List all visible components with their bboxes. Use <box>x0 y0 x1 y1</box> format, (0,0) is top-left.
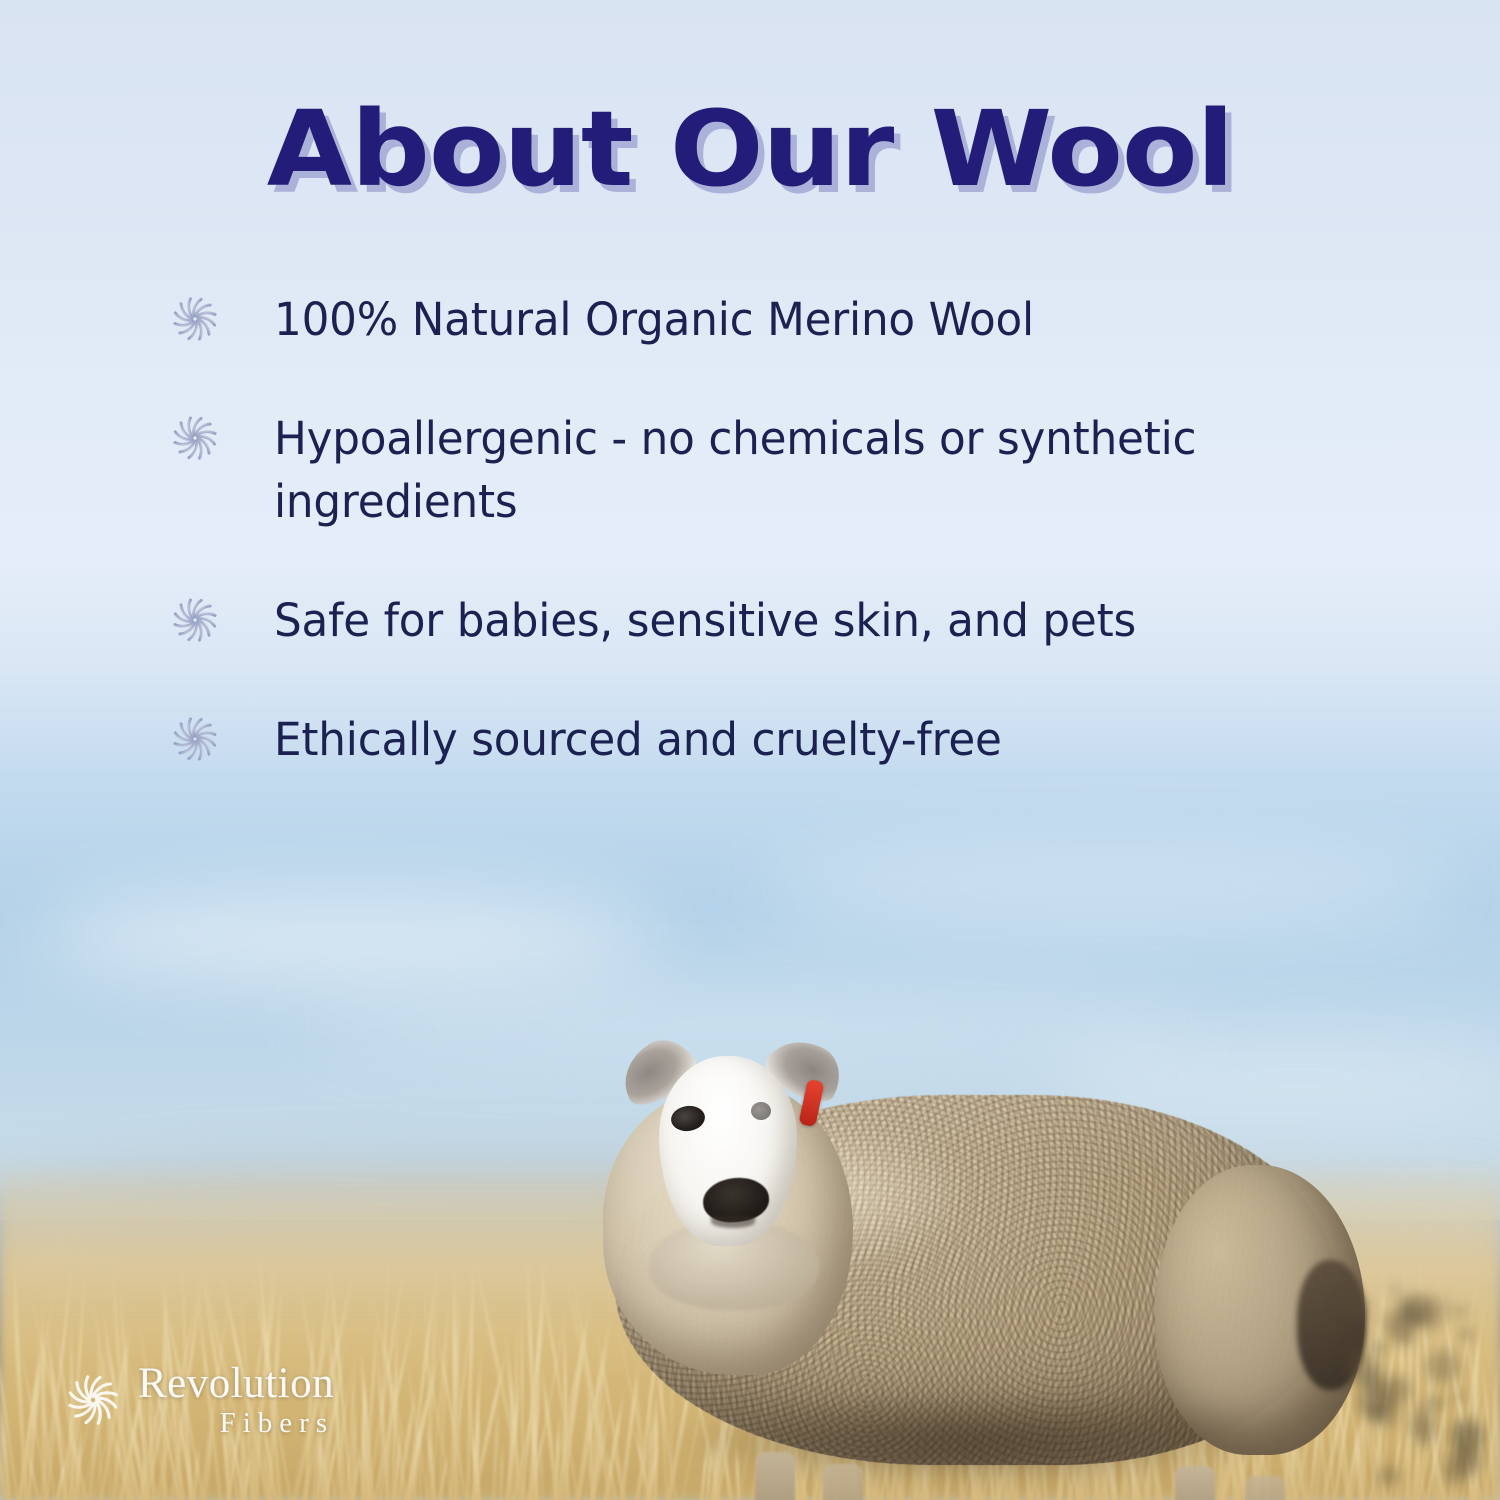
list-item: 100% Natural Organic Merino Wool <box>168 288 1348 351</box>
shrub-clump <box>1388 1318 1414 1344</box>
list-item: Hypoallergenic - no chemicals or synthet… <box>168 407 1348 533</box>
wool-swirl-icon <box>168 712 222 766</box>
sheep-eye-right <box>751 1102 771 1120</box>
revolution-fibers-swirl-mark <box>62 1369 124 1431</box>
sheep-leg <box>1175 1466 1215 1500</box>
shrub-clump <box>1450 1416 1485 1451</box>
shrub-clump <box>1353 1301 1368 1316</box>
shrub-clump <box>1390 1285 1402 1297</box>
list-item-label: Safe for babies, sensitive skin, and pet… <box>274 589 1136 652</box>
list-item: Ethically sourced and cruelty-free <box>168 708 1348 771</box>
sheep-leg <box>755 1452 795 1500</box>
feature-list: 100% Natural Organic Merino Wool <box>168 288 1348 827</box>
shrub-clump <box>1361 1371 1386 1396</box>
sheep-mouth <box>711 1216 755 1228</box>
thistle-shrub <box>1330 1270 1495 1500</box>
wool-swirl-icon <box>168 292 222 346</box>
shrub-clump <box>1372 1341 1385 1354</box>
sheep-leg <box>1245 1476 1285 1500</box>
logo-wordmark: Revolution Fibers <box>138 1362 334 1438</box>
shrub-clump <box>1451 1389 1467 1405</box>
shrub-clump <box>1411 1415 1435 1439</box>
shrub-clump <box>1372 1400 1400 1428</box>
shrub-clump <box>1459 1327 1474 1342</box>
sheep-leg <box>823 1464 863 1500</box>
cloud-wisp <box>760 850 1460 930</box>
shrub-clump <box>1455 1306 1466 1317</box>
sheep-head <box>625 1030 835 1255</box>
shrub-clump <box>1426 1394 1444 1412</box>
list-item-label: Ethically sourced and cruelty-free <box>274 708 1002 771</box>
logo-line-fibers: Fibers <box>138 1409 334 1438</box>
list-item: Safe for babies, sensitive skin, and pet… <box>168 589 1348 652</box>
list-item-label: Hypoallergenic - no chemicals or synthet… <box>274 407 1263 533</box>
shrub-clump <box>1413 1311 1426 1324</box>
list-item-label: 100% Natural Organic Merino Wool <box>274 288 1034 351</box>
logo-line-revolution: Revolution <box>138 1362 334 1405</box>
about-our-wool-infographic: About Our Wool <box>0 0 1500 1500</box>
wool-swirl-icon <box>168 411 222 465</box>
page-title: About Our Wool <box>0 88 1500 210</box>
wool-swirl-icon <box>168 593 222 647</box>
shrub-clump <box>1378 1465 1399 1486</box>
shrub-clump <box>1424 1318 1439 1333</box>
grass-blade <box>499 1438 504 1500</box>
sheep <box>555 955 1395 1500</box>
shrub-clump <box>1349 1347 1362 1360</box>
shrub-clump <box>1426 1350 1460 1384</box>
brand-logo: Revolution Fibers <box>62 1362 334 1438</box>
